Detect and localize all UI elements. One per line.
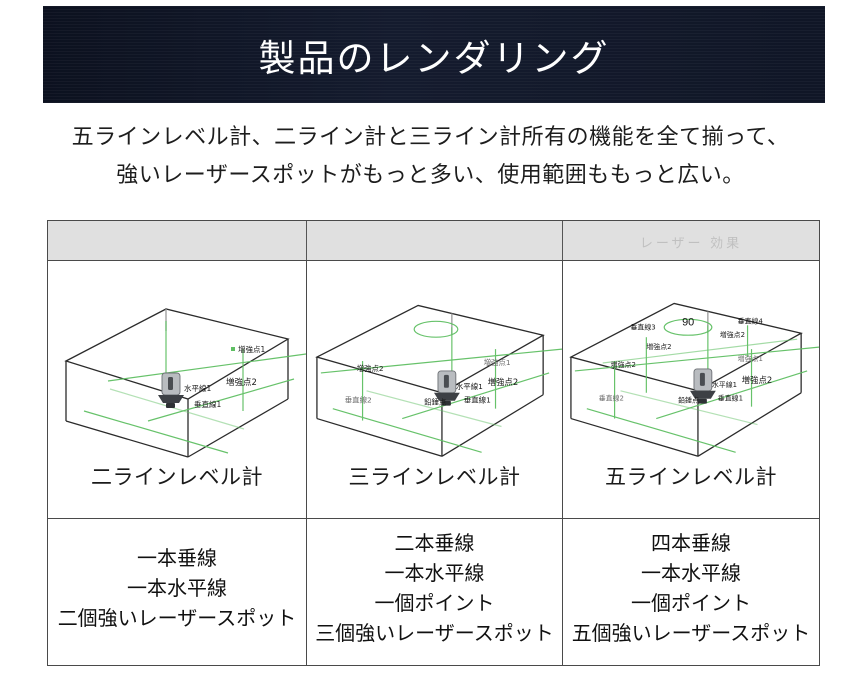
- diagram-two-line: 増強点1 増強点2 水平線1 垂直線1: [48, 261, 306, 465]
- svg-text:増強点1: 増強点1: [484, 357, 511, 367]
- spec-item: 二本垂線: [395, 529, 475, 559]
- spec-item: 一本垂線: [137, 544, 217, 574]
- header-ghost-text: レーザー 効果: [640, 233, 742, 252]
- spec-item: 一個ポイント: [631, 589, 751, 619]
- header-cell-2: [306, 221, 563, 260]
- spec-item: 一本水平線: [385, 559, 485, 589]
- svg-text:90: 90: [682, 316, 694, 328]
- spec-item: 四本垂線: [651, 529, 731, 559]
- svg-text:水平線1: 水平線1: [456, 381, 483, 391]
- comparison-table: レーザー 効果: [47, 220, 820, 666]
- spec-item: 二個強いレーザースポット: [58, 604, 297, 634]
- spec-item: 五個強いレーザースポット: [572, 619, 811, 649]
- table-header-row: レーザー 効果: [48, 221, 819, 261]
- svg-text:増強点2: 増強点2: [720, 330, 745, 339]
- subtitle-line-1: 五ラインレベル計、二ライン計と三ライン計所有の機能を全て揃って、: [0, 118, 861, 156]
- svg-text:鉛錘点: 鉛錘点: [424, 397, 447, 407]
- svg-text:垂直線1: 垂直線1: [194, 399, 221, 409]
- svg-text:増強点2: 増強点2: [226, 377, 257, 388]
- svg-text:水平線1: 水平線1: [184, 383, 211, 393]
- svg-text:垂直線2: 垂直線2: [599, 394, 624, 403]
- diagram-cell-two-line: 増強点1 増強点2 水平線1 垂直線1 二ラインレベル計: [48, 261, 306, 518]
- spec-item: 三個強いレーザースポット: [315, 619, 554, 649]
- svg-text:増強点2: 増強点2: [646, 342, 671, 351]
- subtitle-block: 五ラインレベル計、二ライン計と三ライン計所有の機能を全て揃って、 強いレーザース…: [0, 118, 861, 194]
- spec-item: 一本水平線: [641, 559, 741, 589]
- model-name-three-line: 三ラインレベル計: [349, 465, 521, 490]
- svg-text:増強点2: 増強点2: [611, 360, 636, 369]
- model-name-five-line: 五ラインレベル計: [605, 465, 777, 490]
- spec-item: 一本水平線: [127, 574, 227, 604]
- svg-text:垂直線4: 垂直線4: [738, 316, 764, 325]
- svg-text:鉛錘点: 鉛錘点: [678, 396, 699, 405]
- specs-cell-two-line: 一本垂線 一本水平線 二個強いレーザースポット: [48, 519, 306, 665]
- svg-text:垂直線2: 垂直線2: [345, 395, 372, 405]
- diagram-three-line: 増強点2 垂直線2 増強点1 増強点2 水平線1 鉛錘点 垂直線1: [307, 261, 562, 465]
- svg-text:垂直線1: 垂直線1: [464, 395, 491, 405]
- svg-text:増強点2: 増強点2: [357, 363, 384, 373]
- table-specs-row: 一本垂線 一本水平線 二個強いレーザースポット 二本垂線 一本水平線 一個ポイン…: [48, 519, 819, 665]
- svg-text:増強点2: 増強点2: [488, 377, 519, 387]
- subtitle-line-2: 強いレーザースポットがもっと多い、使用範囲ももっと広い。: [0, 156, 861, 194]
- page-title: 製品のレンダリング: [259, 28, 610, 82]
- model-name-two-line: 二ラインレベル計: [91, 465, 263, 490]
- diagram-cell-three-line: 増強点2 垂直線2 増強点1 増強点2 水平線1 鉛錘点 垂直線1 三ラインレベ…: [306, 261, 563, 518]
- diagram-five-line: 垂直線3 垂直線4 90 増強点2 増強点2 増強点2 増強点1 増強点2 垂直…: [563, 261, 819, 465]
- specs-cell-three-line: 二本垂線 一本水平線 一個ポイント 三個強いレーザースポット: [306, 519, 563, 665]
- header-cell-1: [48, 221, 306, 260]
- svg-text:水平線1: 水平線1: [712, 380, 737, 389]
- svg-text:増強点1: 増強点1: [738, 354, 763, 363]
- specs-cell-five-line: 四本垂線 一本水平線 一個ポイント 五個強いレーザースポット: [563, 519, 819, 665]
- svg-text:垂直線1: 垂直線1: [718, 394, 743, 403]
- header-banner: 製品のレンダリング: [43, 6, 825, 103]
- diagram-cell-five-line: 垂直線3 垂直線4 90 増強点2 増強点2 増強点2 増強点1 増強点2 垂直…: [563, 261, 819, 518]
- spec-item: 一個ポイント: [375, 589, 495, 619]
- svg-text:垂直線3: 垂直線3: [630, 322, 655, 331]
- svg-text:増強点2: 増強点2: [742, 375, 773, 385]
- table-diagram-row: 増強点1 増強点2 水平線1 垂直線1 二ラインレベル計: [48, 261, 819, 519]
- svg-text:増強点1: 増強点1: [238, 344, 265, 354]
- header-cell-3: レーザー 効果: [563, 221, 819, 260]
